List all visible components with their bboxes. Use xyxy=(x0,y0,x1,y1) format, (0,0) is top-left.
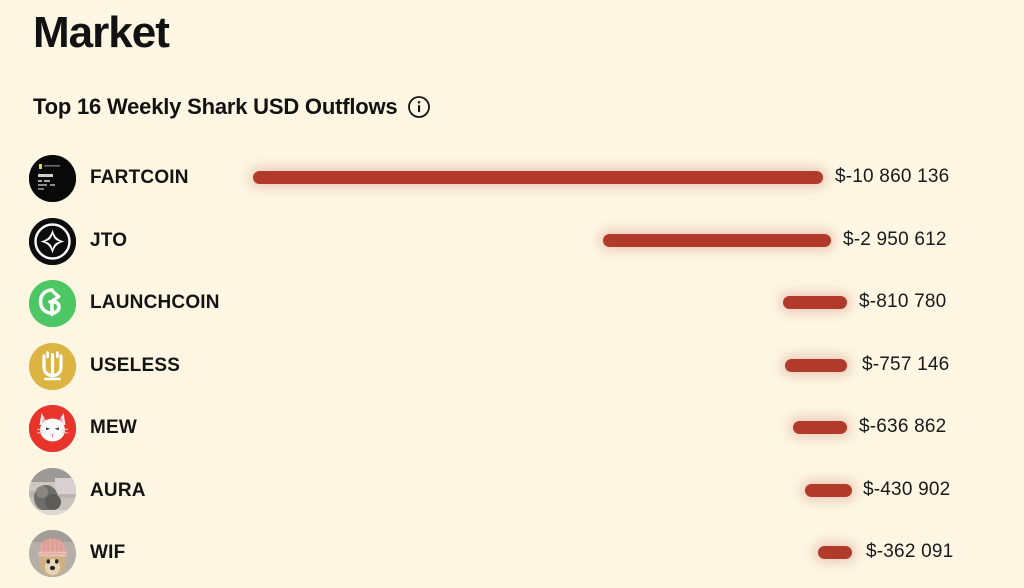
value-label: $-10 860 136 xyxy=(835,166,949,188)
bar-track: $-430 902 xyxy=(90,460,1024,523)
bar-track: $-757 146 xyxy=(90,335,1024,398)
value-bar xyxy=(818,546,852,559)
value-label: $-757 146 xyxy=(862,354,949,376)
value-bar xyxy=(793,421,847,434)
fartcoin-icon xyxy=(29,155,76,202)
value-label: $-636 862 xyxy=(859,416,946,438)
chart-row[interactable]: JTO $-2 950 612 xyxy=(0,210,1024,273)
value-bar xyxy=(805,484,852,497)
launchcoin-icon xyxy=(29,280,76,327)
value-bar xyxy=(783,296,847,309)
bar-track: $-10 860 136 xyxy=(90,147,1024,210)
chart-row[interactable]: FARTCOIN $-10 860 136 xyxy=(0,147,1024,210)
wif-icon xyxy=(29,530,76,577)
value-label: $-362 091 xyxy=(866,541,953,563)
chart-header: Top 16 Weekly Shark USD Outflows xyxy=(33,94,431,120)
jto-icon xyxy=(29,218,76,265)
chart-row[interactable]: AURA $-430 902 xyxy=(0,460,1024,523)
bar-track: $-810 780 xyxy=(90,272,1024,335)
value-label: $-2 950 612 xyxy=(843,229,947,251)
outflows-bar-chart: FARTCOIN $-10 860 136 JTO $-2 950 612 xyxy=(0,147,1024,585)
chart-title: Top 16 Weekly Shark USD Outflows xyxy=(33,94,397,120)
value-bar xyxy=(603,234,831,247)
mew-icon xyxy=(29,405,76,452)
bar-track: $-362 091 xyxy=(90,522,1024,585)
chart-row[interactable]: LAUNCHCOIN $-810 780 xyxy=(0,272,1024,335)
chart-row[interactable]: MEW $-636 862 xyxy=(0,397,1024,460)
value-label: $-430 902 xyxy=(863,479,950,501)
aura-icon xyxy=(29,468,76,515)
chart-row[interactable]: USELESS $-757 146 xyxy=(0,335,1024,398)
market-chart-page: Market Top 16 Weekly Shark USD Outflows xyxy=(0,0,1024,588)
useless-icon xyxy=(29,343,76,390)
bar-track: $-636 862 xyxy=(90,397,1024,460)
value-bar xyxy=(785,359,847,372)
bar-track: $-2 950 612 xyxy=(90,210,1024,273)
info-circle-icon[interactable] xyxy=(407,95,431,119)
page-title: Market xyxy=(33,8,169,59)
value-label: $-810 780 xyxy=(859,291,946,313)
value-bar xyxy=(253,171,823,184)
chart-row[interactable]: WIF $-362 091 xyxy=(0,522,1024,585)
